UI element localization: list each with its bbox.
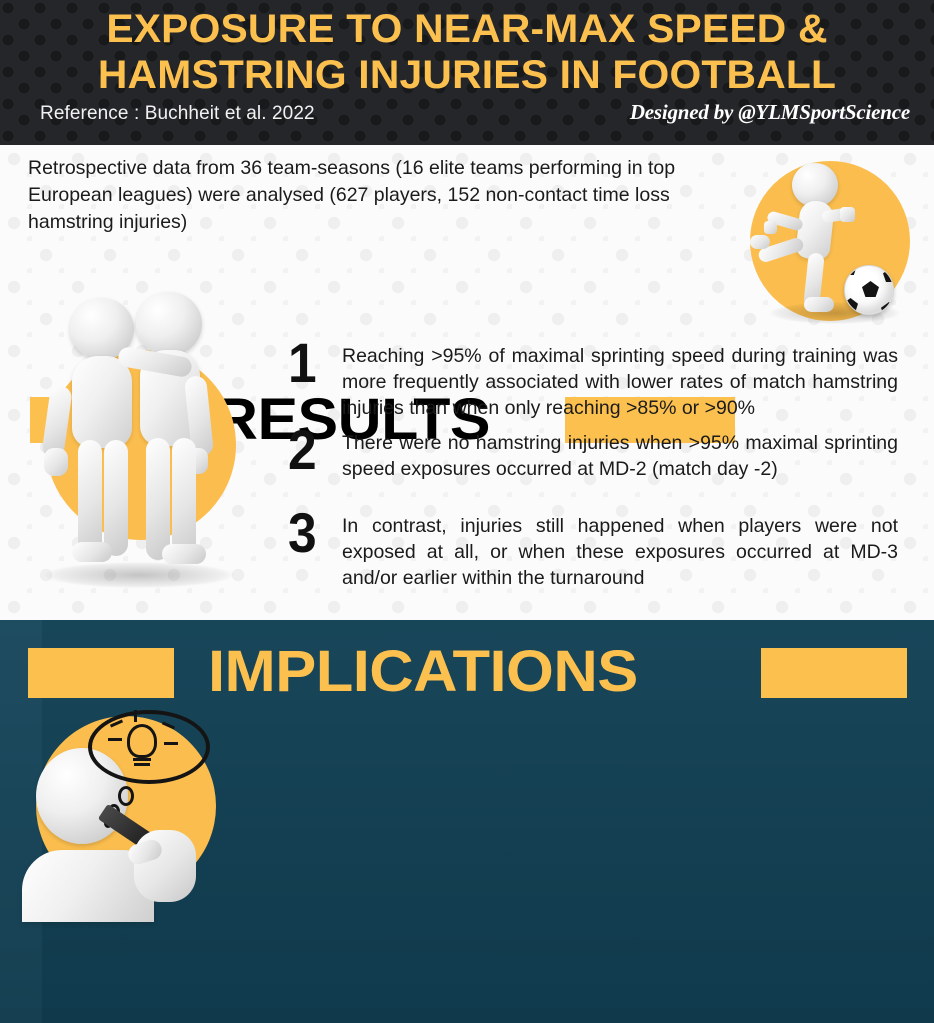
title-line-1: EXPOSURE TO NEAR-MAX SPEED & (0, 6, 934, 52)
result-point-3-number: 3 (288, 505, 332, 561)
implications-accent-block-left (28, 648, 174, 698)
lightbulb-icon (127, 724, 157, 758)
result-point-1-number: 1 (288, 335, 332, 391)
right-figure-head-icon (136, 292, 202, 356)
thought-bubble-dot-large-icon (118, 786, 134, 806)
right-figure-leg-left-icon (146, 438, 170, 560)
left-figure-leg-right-icon (104, 440, 128, 556)
pair-figures-illustration (28, 290, 258, 600)
lightbulb-base2-icon (134, 763, 150, 766)
title-line-2: HAMSTRING INJURIES IN FOOTBALL (0, 52, 934, 98)
left-figure-foot-icon (72, 542, 112, 562)
designer-credit: Designed by @YLMSportScience (630, 100, 910, 125)
implications-accent-block-right (761, 648, 907, 698)
pair-ground-shadow (44, 562, 234, 588)
soccer-ball-icon (844, 265, 894, 315)
result-point-3-text: In contrast, injuries still happened whe… (342, 513, 898, 591)
lightbulb-ray-2-icon (108, 738, 122, 741)
right-figure-foot-icon (162, 544, 206, 564)
reference-text: Reference : Buchheit et al. 2022 (40, 103, 315, 125)
result-point-2-text: There were no hamstring injuries when >9… (342, 430, 898, 482)
lightbulb-ray-3-icon (134, 710, 137, 722)
result-point-1-text: Reaching >95% of maximal sprinting speed… (342, 343, 898, 421)
runner-foot-front-icon (804, 297, 834, 312)
lightbulb-base-icon (133, 758, 151, 761)
study-intro-text: Retrospective data from 36 team-seasons … (28, 155, 728, 236)
poster-title: EXPOSURE TO NEAR-MAX SPEED & HAMSTRING I… (0, 6, 934, 98)
runner-forearm-back-icon (764, 221, 777, 234)
left-figure-hand-icon (44, 448, 68, 476)
infographic-poster: EXPOSURE TO NEAR-MAX SPEED & HAMSTRING I… (0, 0, 934, 1023)
results-section: Retrospective data from 36 team-seasons … (0, 145, 934, 620)
lightbulb-ray-5-icon (164, 742, 178, 745)
header-banner: EXPOSURE TO NEAR-MAX SPEED & HAMSTRING I… (0, 0, 934, 145)
runner-foot-back-icon (750, 235, 770, 249)
implications-section: IMPLICATIONS A (0, 620, 934, 1023)
left-figure-torso-icon (72, 356, 132, 448)
left-figure-leg-left-icon (78, 440, 102, 556)
implications-heading: IMPLICATIONS (208, 643, 638, 701)
result-point-2-number: 2 (288, 422, 332, 478)
runner-torso-icon (795, 199, 835, 260)
running-figure-illustration (734, 157, 924, 322)
runner-forearm-front-icon (840, 207, 855, 222)
right-figure-leg-right-icon (172, 438, 196, 560)
idea-figure-illustration (22, 702, 242, 942)
